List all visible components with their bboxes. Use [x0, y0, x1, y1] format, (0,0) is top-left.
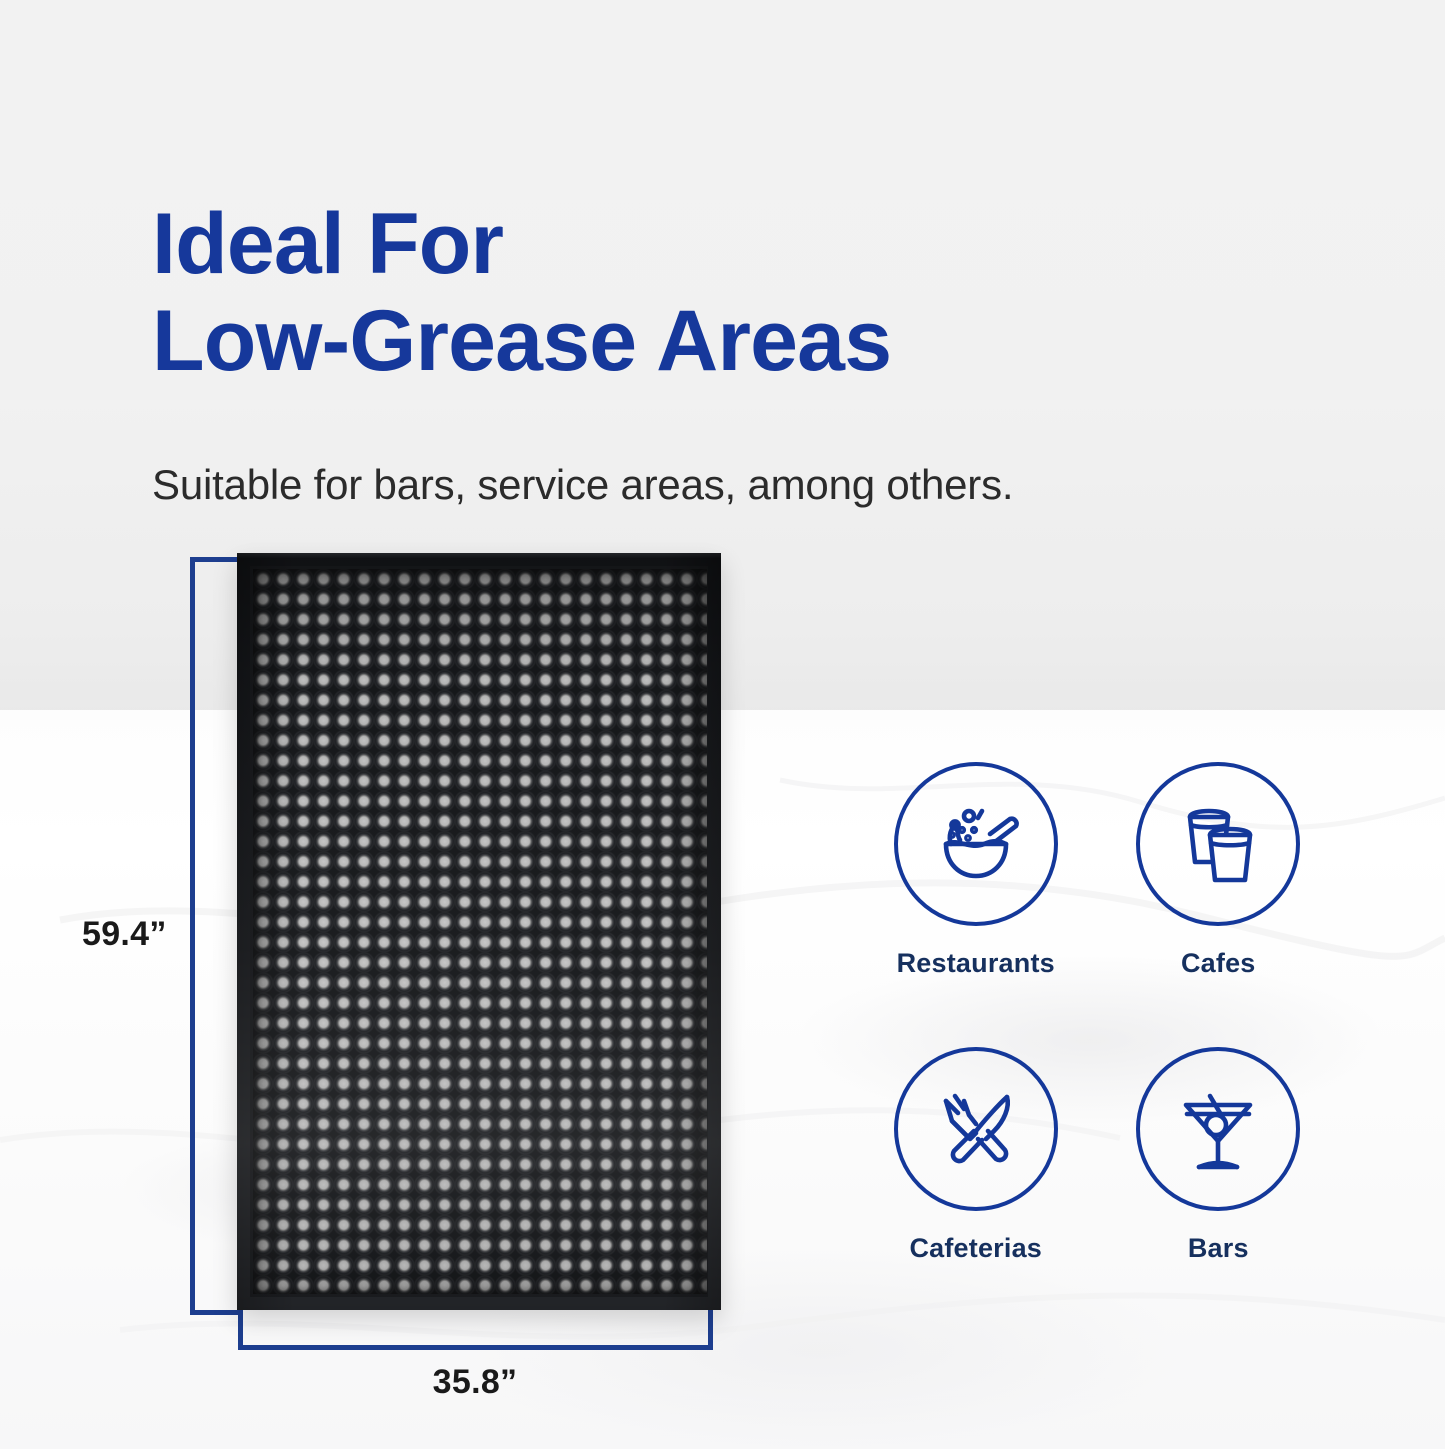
- use-case-label: Cafes: [1181, 948, 1256, 979]
- use-case-cafes[interactable]: Cafes: [1115, 762, 1323, 979]
- width-dimension-label: 35.8”: [0, 1363, 950, 1402]
- wok-pan-icon: [894, 762, 1058, 926]
- martini-glass-icon: [1136, 1047, 1300, 1211]
- page-subtitle: Suitable for bars, service areas, among …: [152, 460, 1302, 510]
- mat-top-edge-highlight: [237, 553, 721, 559]
- drink-cups-icon: [1136, 762, 1300, 926]
- height-dimension-bracket: [190, 557, 240, 1315]
- use-case-cafeterias[interactable]: Cafeterias: [872, 1047, 1080, 1264]
- use-case-label: Restaurants: [897, 948, 1055, 979]
- use-case-restaurants[interactable]: Restaurants: [872, 762, 1080, 979]
- infographic-canvas: Ideal For Low-Grease Areas Suitable for …: [0, 0, 1445, 1449]
- use-case-label: Cafeterias: [909, 1233, 1042, 1264]
- mat-body: [237, 553, 721, 1310]
- mat-border-frame: [237, 553, 721, 1310]
- height-dimension-label: 59.4”: [82, 915, 167, 954]
- use-case-bars[interactable]: Bars: [1115, 1047, 1323, 1264]
- use-case-icon-grid: Restaurants Cafes: [872, 762, 1322, 1264]
- page-title: Ideal For Low-Grease Areas: [152, 196, 1252, 390]
- fork-knife-icon: [894, 1047, 1058, 1211]
- use-case-label: Bars: [1188, 1233, 1249, 1264]
- product-image-mat: [237, 553, 721, 1310]
